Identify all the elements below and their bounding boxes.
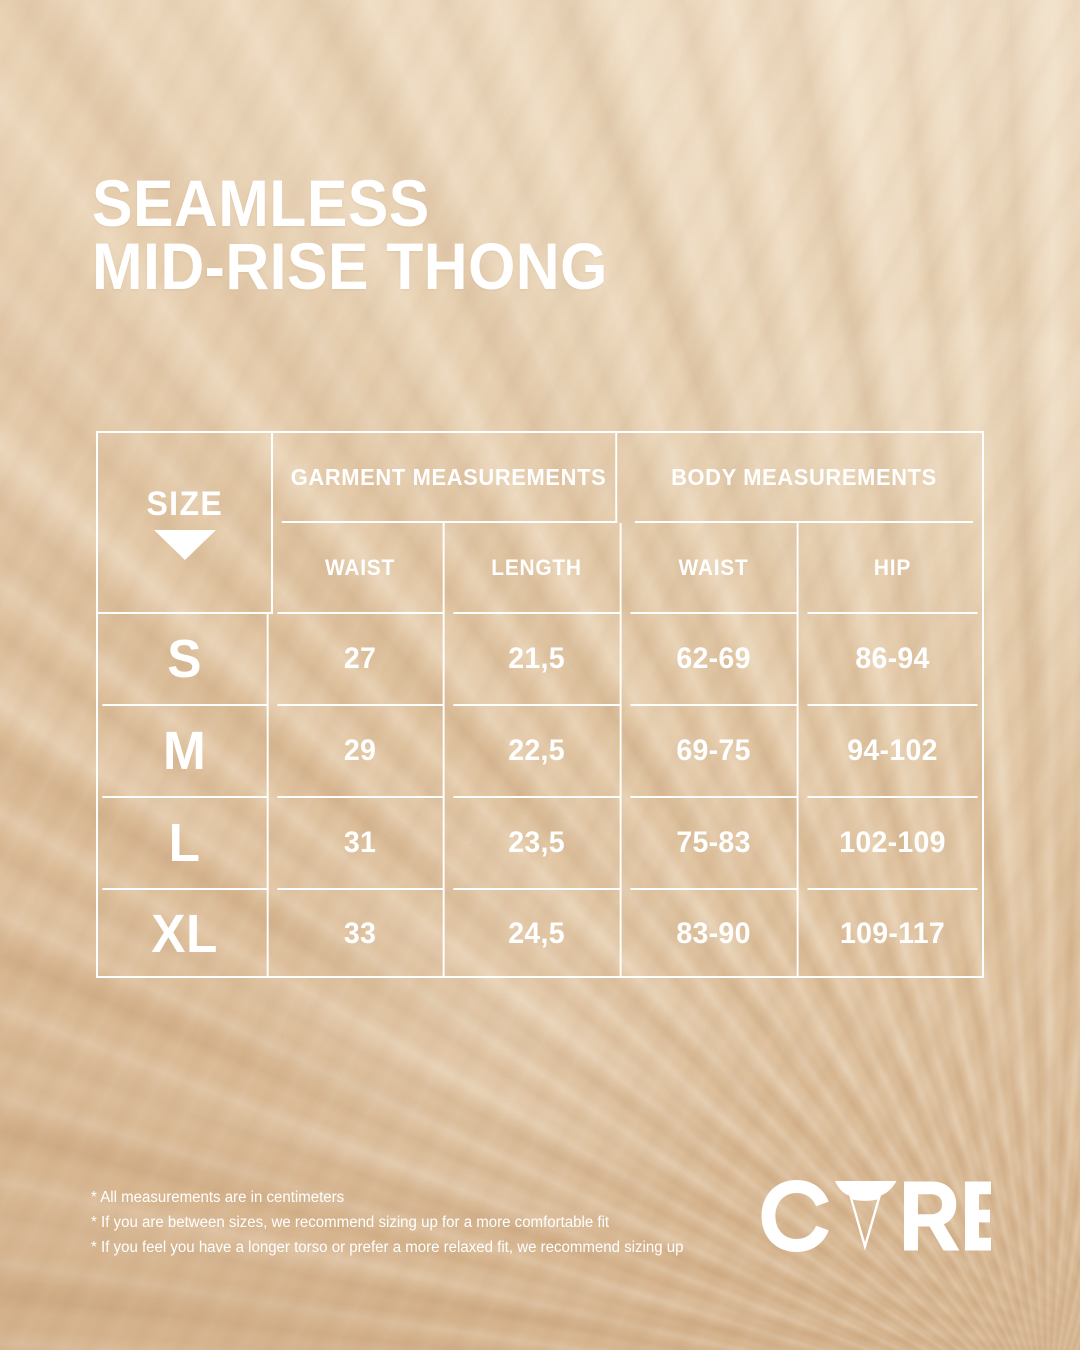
value: 29 xyxy=(344,734,376,768)
cell-s-garment-length: 21,5 xyxy=(453,614,621,706)
logo-letter-e xyxy=(965,1182,991,1251)
cell-l-body-hip: 102-109 xyxy=(807,798,977,890)
value: 22,5 xyxy=(508,734,565,768)
cell-xl-body-waist: 83-90 xyxy=(630,890,798,978)
table-row-size-s: S xyxy=(102,614,268,706)
subheader-garment-length-label: LENGTH xyxy=(491,555,581,581)
value: 27 xyxy=(344,642,376,676)
cell-m-garment-length: 22,5 xyxy=(453,706,621,798)
footnote-3: * If you feel you have a longer torso or… xyxy=(91,1235,684,1260)
size-chart-page: SEAMLESS MID-RISE THONG SIZE GARMENT MEA… xyxy=(0,0,1080,1350)
value: 62-69 xyxy=(676,642,750,676)
logo-letter-r xyxy=(904,1182,960,1251)
logo-letter-a-triangle-icon xyxy=(835,1181,897,1251)
size-chart-table: SIZE GARMENT MEASUREMENTS BODY MEASUREME… xyxy=(96,431,984,978)
value: 109-117 xyxy=(840,917,945,951)
cell-xl-body-hip: 109-117 xyxy=(807,890,977,978)
cell-l-garment-waist: 31 xyxy=(277,798,444,890)
group-header-body: BODY MEASUREMENTS xyxy=(635,433,973,523)
cell-m-body-waist: 69-75 xyxy=(630,706,798,798)
value: 94-102 xyxy=(847,734,937,768)
logo-letter-c xyxy=(762,1180,829,1252)
footnote-2: * If you are between sizes, we recommend… xyxy=(91,1210,684,1235)
cell-l-garment-length: 23,5 xyxy=(453,798,621,890)
subheader-body-hip: HIP xyxy=(807,523,977,614)
group-header-garment: GARMENT MEASUREMENTS xyxy=(282,433,617,523)
size-value: S xyxy=(167,628,202,690)
value: 83-90 xyxy=(676,917,750,951)
table-row-size-l: L xyxy=(102,798,268,890)
brand-logo xyxy=(760,1178,992,1254)
value: 86-94 xyxy=(855,642,929,676)
size-value: XL xyxy=(151,903,218,965)
page-title-line-2: MID-RISE THONG xyxy=(92,235,608,298)
subheader-garment-length: LENGTH xyxy=(453,523,621,614)
subheader-garment-waist-label: WAIST xyxy=(325,555,395,581)
value: 102-109 xyxy=(839,826,946,860)
table-row-size-m: M xyxy=(102,706,268,798)
size-header-label: SIZE xyxy=(146,485,223,524)
value: 69-75 xyxy=(676,734,750,768)
subheader-body-hip-label: HIP xyxy=(874,555,911,581)
cell-s-body-waist: 62-69 xyxy=(630,614,798,706)
group-header-body-label: BODY MEASUREMENTS xyxy=(671,464,937,491)
triangle-down-icon xyxy=(154,530,216,560)
subheader-body-waist: WAIST xyxy=(630,523,798,614)
size-value: L xyxy=(169,812,201,874)
value: 33 xyxy=(344,917,376,951)
subheader-garment-waist: WAIST xyxy=(277,523,444,614)
value: 31 xyxy=(344,826,376,860)
value: 23,5 xyxy=(508,826,565,860)
cell-m-garment-waist: 29 xyxy=(277,706,444,798)
group-header-garment-label: GARMENT MEASUREMENTS xyxy=(291,464,607,491)
table-row-size-xl: XL xyxy=(102,890,268,978)
cell-l-body-waist: 75-83 xyxy=(630,798,798,890)
cell-xl-garment-waist: 33 xyxy=(277,890,444,978)
value: 75-83 xyxy=(676,826,750,860)
cell-xl-garment-length: 24,5 xyxy=(453,890,621,978)
footnotes: * All measurements are in centimeters * … xyxy=(91,1185,684,1260)
page-title-line-1: SEAMLESS xyxy=(92,172,608,235)
size-header-cell: SIZE xyxy=(98,433,273,614)
cell-m-body-hip: 94-102 xyxy=(807,706,977,798)
cell-s-body-hip: 86-94 xyxy=(807,614,977,706)
value: 24,5 xyxy=(508,917,565,951)
footnote-1: * All measurements are in centimeters xyxy=(91,1185,684,1210)
page-title: SEAMLESS MID-RISE THONG xyxy=(92,172,608,299)
size-value: M xyxy=(163,720,206,782)
cell-s-garment-waist: 27 xyxy=(277,614,444,706)
value: 21,5 xyxy=(508,642,565,676)
subheader-body-waist-label: WAIST xyxy=(679,555,749,581)
